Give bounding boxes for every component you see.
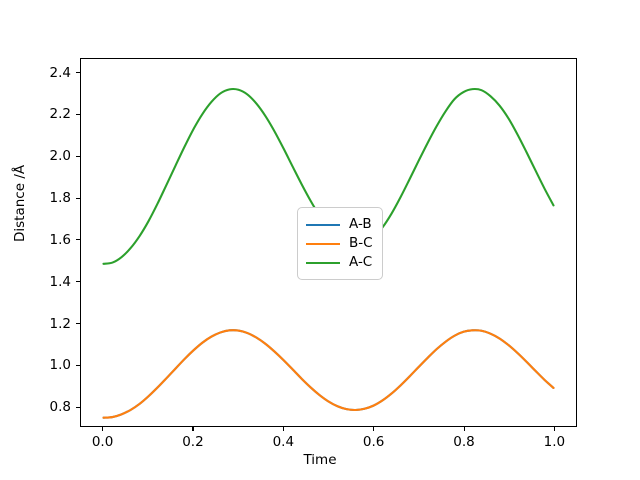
y-axis-label: Distance /Å: [12, 165, 28, 242]
y-tick-label: 2.2: [0, 106, 71, 122]
x-tick-label: 0.8: [453, 434, 474, 450]
series-line-b-c: [103, 330, 553, 418]
x-tick-mark: [464, 427, 465, 431]
x-tick-mark: [373, 427, 374, 431]
y-tick-label: 1.0: [0, 357, 71, 373]
legend-color-swatch: [306, 224, 340, 226]
y-tick-label: 2.4: [0, 65, 71, 81]
x-tick-label: 0.6: [363, 434, 384, 450]
y-tick-label: 1.8: [0, 190, 71, 206]
y-tick-label: 0.8: [0, 399, 71, 415]
y-tick-label: 1.6: [0, 232, 71, 248]
x-tick-label: 0.4: [273, 434, 294, 450]
legend-label: B-C: [349, 237, 373, 251]
x-tick-label: 0.0: [92, 434, 113, 450]
matplotlib-figure: 0.81.01.21.41.61.82.02.22.4 0.00.20.40.6…: [0, 0, 640, 480]
x-axis-label: Time: [0, 452, 640, 468]
legend-item-b-c[interactable]: B-C: [306, 234, 373, 253]
x-tick-label: 1.0: [544, 434, 565, 450]
x-tick-mark: [102, 427, 103, 431]
legend-item-a-b[interactable]: A-B: [306, 215, 373, 234]
legend-label: A-C: [349, 256, 372, 270]
x-tick-mark: [554, 427, 555, 431]
x-tick-mark: [283, 427, 284, 431]
legend-color-swatch: [306, 243, 340, 245]
y-tick-label: 1.4: [0, 274, 71, 290]
legend-label: A-B: [349, 218, 372, 232]
legend-color-swatch: [306, 262, 340, 264]
y-tick-label: 2.0: [0, 148, 71, 164]
x-tick-label: 0.2: [182, 434, 203, 450]
x-tick-mark: [192, 427, 193, 431]
legend-item-a-c[interactable]: A-C: [306, 253, 373, 272]
legend-box[interactable]: A-BB-CA-C: [297, 207, 383, 280]
y-tick-label: 1.2: [0, 316, 71, 332]
